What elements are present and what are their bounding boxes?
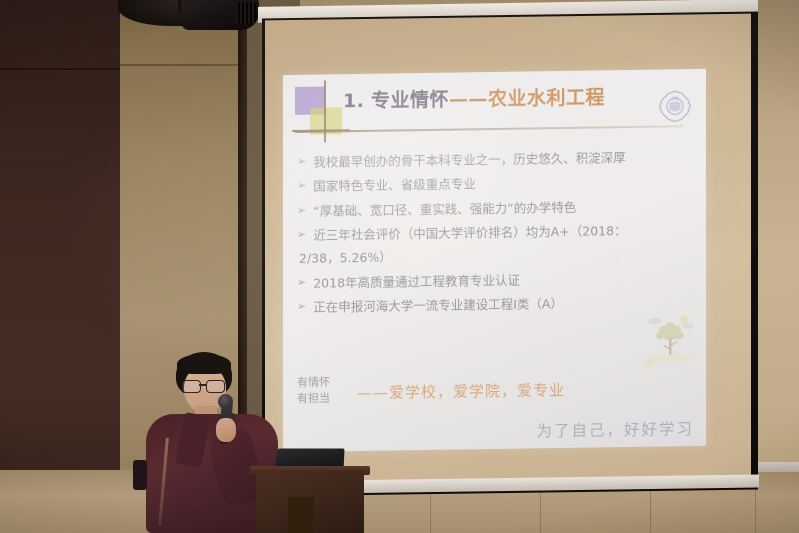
housing-brand-label	[734, 3, 736, 9]
projector-lens-icon	[236, 2, 256, 24]
title-main-text: 专业情怀	[371, 89, 449, 112]
glasses-bridge-icon	[199, 384, 207, 386]
list-item-text: 我校最早创办的骨干本科专业之一，历史悠久、积淀深厚	[313, 150, 626, 170]
wall-seam	[118, 64, 244, 66]
bullet-arrow-icon: ➢	[297, 155, 306, 170]
tagline-right: ——爱学校，爱学院，爱专业	[357, 379, 565, 403]
list-item-text: 2018年高质量通过工程教育专业认证	[313, 273, 520, 291]
list-item-text: 国家特色专业、省级重点专业	[313, 177, 476, 195]
glasses-lens-left-icon	[182, 380, 201, 393]
title-accent-text: 农业水利工程	[488, 86, 605, 110]
dark-foreground-object	[133, 460, 147, 490]
list-item: ➢ “厚基础、宽口径、重实践、强能力”的办学特色	[297, 198, 692, 219]
list-item: ➢ 近三年社会评价（中国大学评价排名）均为A+（2018：	[297, 222, 692, 243]
microphone-head-icon	[218, 394, 233, 409]
list-item-text: “厚基础、宽口径、重实践、强能力”的办学特色	[313, 199, 576, 218]
title-dash: ——	[449, 88, 488, 111]
list-item: ➢ 国家特色专业、省级重点专业	[297, 173, 692, 194]
dark-wood-wall-panel	[0, 0, 120, 533]
closing-statement: 为了自己，好好学习	[536, 417, 694, 441]
university-seal-icon: 河海	[658, 89, 692, 124]
list-item-text: 正在申报河海大学一流专业建设工程I类（A）	[313, 296, 563, 315]
tagline-left-line-1: 有情怀	[297, 374, 330, 390]
title-underline-rule	[295, 125, 683, 133]
hand-holding-tree-icon	[642, 311, 698, 374]
svg-text:河海: 河海	[672, 95, 679, 100]
wall-panel-seam	[0, 68, 120, 70]
decorative-vertical-line	[324, 80, 326, 142]
tagline-block: 有情怀 有担当 ——爱学校，爱学院，爱专业	[297, 369, 697, 375]
slide-bullet-list: ➢ 我校最早创办的骨干本科专业之一，历史悠久、积淀深厚 ➢ 国家特色专业、省级重…	[297, 149, 692, 324]
list-item: ➢ 正在申报河海大学一流专业建设工程I类（A）	[297, 294, 692, 315]
glasses-lens-right-icon	[206, 380, 225, 393]
presenter-hair-front	[177, 354, 231, 374]
title-number: 1.	[343, 90, 364, 112]
slide-title: 1. 专业情怀——农业水利工程	[343, 88, 605, 111]
list-item: ➢ 2018年高质量通过工程教育专业认证	[297, 270, 692, 291]
list-item-text: 近三年社会评价（中国大学评价排名）均为A+（2018：	[313, 223, 626, 243]
bullet-arrow-icon: ➢	[297, 276, 306, 291]
tagline-left-line-2: 有担当	[297, 390, 330, 406]
projected-slide: 1. 专业情怀——农业水利工程 河海 ➢ 我校最早创办的骨干本科专业之一，历史悠…	[283, 69, 706, 452]
list-item-continuation: 2/38，5.26%）	[299, 242, 692, 267]
bullet-arrow-icon: ➢	[297, 179, 306, 194]
presenter-hand	[216, 418, 236, 442]
bullet-arrow-icon: ➢	[297, 228, 306, 243]
lecture-hall-photo: 1. 专业情怀——农业水利工程 河海 ➢ 我校最早创办的骨干本科专业之一，历史悠…	[0, 0, 799, 533]
list-item: ➢ 我校最早创办的骨干本科专业之一，历史悠久、积淀深厚	[297, 149, 692, 170]
bullet-arrow-icon: ➢	[297, 203, 306, 218]
tagline-left: 有情怀 有担当	[297, 374, 330, 406]
podium-base-column	[288, 497, 314, 533]
bullet-arrow-icon: ➢	[297, 300, 306, 315]
